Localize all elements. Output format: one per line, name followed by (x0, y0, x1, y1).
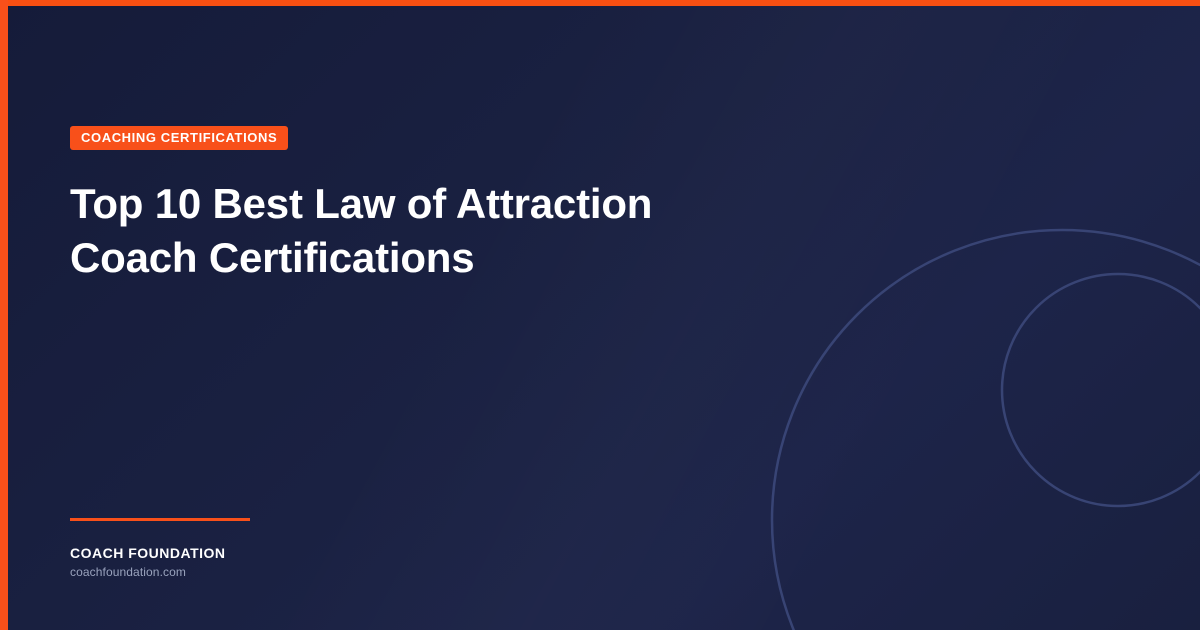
footer-divider (70, 518, 250, 521)
large-circle-outline (772, 230, 1200, 630)
top-accent-bar (0, 0, 1200, 6)
brand-website: coachfoundation.com (70, 565, 250, 579)
left-accent-bar (0, 0, 8, 630)
social-share-banner: COACHING CERTIFICATIONS Top 10 Best Law … (0, 0, 1200, 630)
banner-content: COACHING CERTIFICATIONS Top 10 Best Law … (70, 126, 830, 285)
brand-name: COACH FOUNDATION (70, 545, 250, 561)
small-circle-outline (1002, 274, 1200, 506)
banner-footer: COACH FOUNDATION coachfoundation.com (70, 518, 250, 579)
category-badge: COACHING CERTIFICATIONS (70, 126, 288, 150)
page-title: Top 10 Best Law of Attraction Coach Cert… (70, 177, 690, 285)
